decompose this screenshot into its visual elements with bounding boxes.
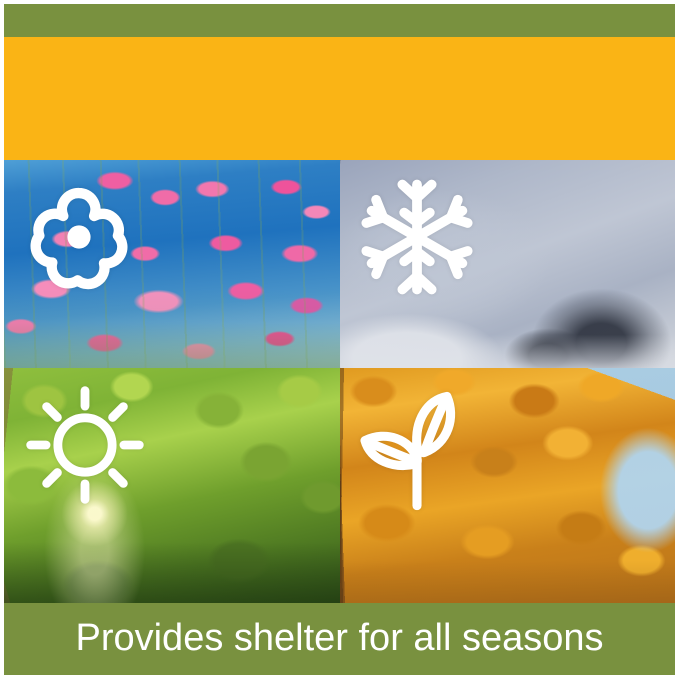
- headline-band: YEAR ROUND PROTECTION: [4, 37, 675, 160]
- season-photo-grid: [4, 160, 675, 603]
- page-title: YEAR ROUND PROTECTION: [37, 43, 388, 160]
- season-cell-spring: [4, 160, 340, 368]
- season-cell-winter: [340, 160, 675, 368]
- product-feature-poster: YEAR ROUND PROTECTION: [0, 0, 679, 679]
- season-cell-autumn: [340, 368, 675, 603]
- footer-caption: Provides shelter for all seasons: [75, 618, 603, 660]
- flower-center: [67, 225, 90, 248]
- sun-icon: [26, 386, 144, 504]
- flower-icon: [18, 176, 140, 298]
- season-cell-summer: [4, 368, 340, 603]
- snowflake-icon: [356, 176, 478, 298]
- footer-band: Provides shelter for all seasons: [4, 603, 675, 675]
- leaves-icon: [352, 386, 482, 516]
- top-accent-strip: [4, 4, 675, 37]
- title-line-1: YEAR ROUND: [37, 153, 388, 160]
